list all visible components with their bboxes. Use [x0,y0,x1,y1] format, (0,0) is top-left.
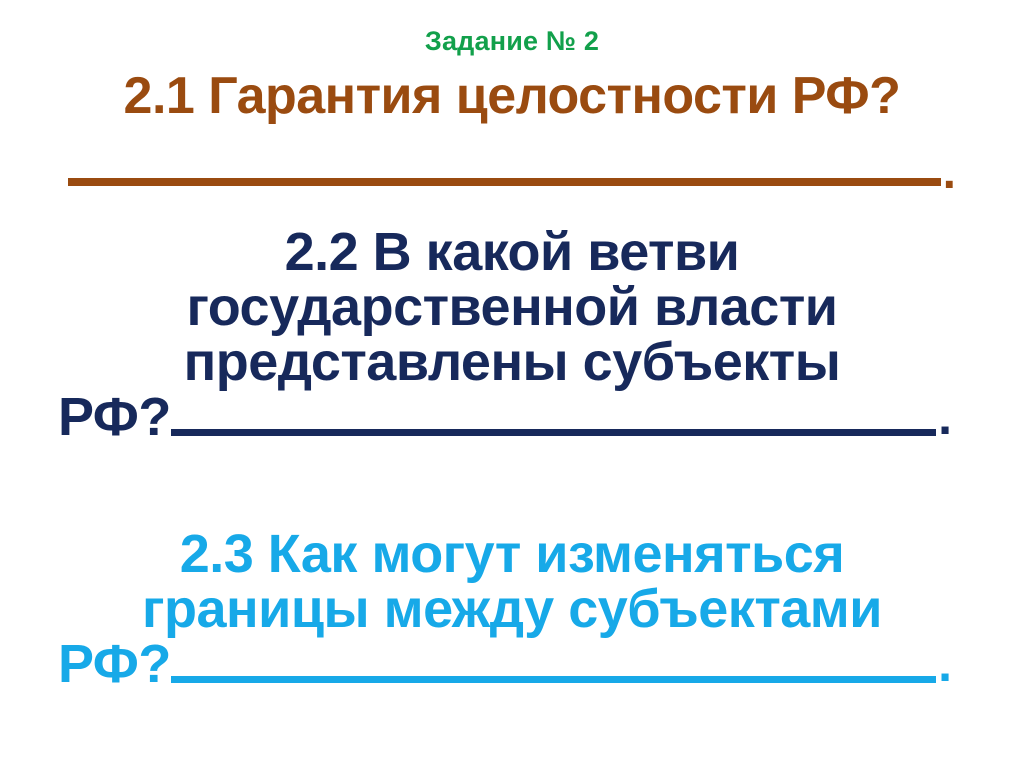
answer-blank-line-2-1[interactable] [68,178,941,186]
task-title: Задание № 2 [0,26,1024,57]
answer-terminator-2-1: . [943,149,956,198]
question-2-2-line-1: 2.2 В какой ветви [0,225,1024,280]
answer-terminator-2-2: . [938,392,952,443]
question-2-2-line-2: государственной власти [0,280,1024,335]
question-2-3-line-1: 2.3 Как могут изменяться [0,527,1024,582]
answer-row-2-2: РФ? . [0,390,1024,445]
question-2-3-answer-lead: РФ? [58,637,171,692]
question-2-1-heading: 2.1 Гарантия целостности РФ? [0,70,1024,123]
question-2-2-answer-lead: РФ? [58,390,171,445]
question-block-2-1: 2.1 Гарантия целостности РФ? . [0,70,1024,196]
question-block-2-2: 2.2 В какой ветви государственной власти… [0,225,1024,445]
question-2-3-line-2: границы между субъектами [0,582,1024,637]
presentation-slide: Задание № 2 2.1 Гарантия целостности РФ?… [0,0,1024,767]
question-2-2-line-3: представлены субъекты [0,335,1024,390]
question-block-2-3: 2.3 Как могут изменяться границы между с… [0,527,1024,692]
answer-row-2-1: . [0,149,1024,196]
answer-row-2-3: РФ? . [0,637,1024,692]
answer-blank-line-2-3[interactable] [171,676,936,683]
answer-blank-line-2-2[interactable] [171,429,936,436]
answer-terminator-2-3: . [938,639,952,690]
